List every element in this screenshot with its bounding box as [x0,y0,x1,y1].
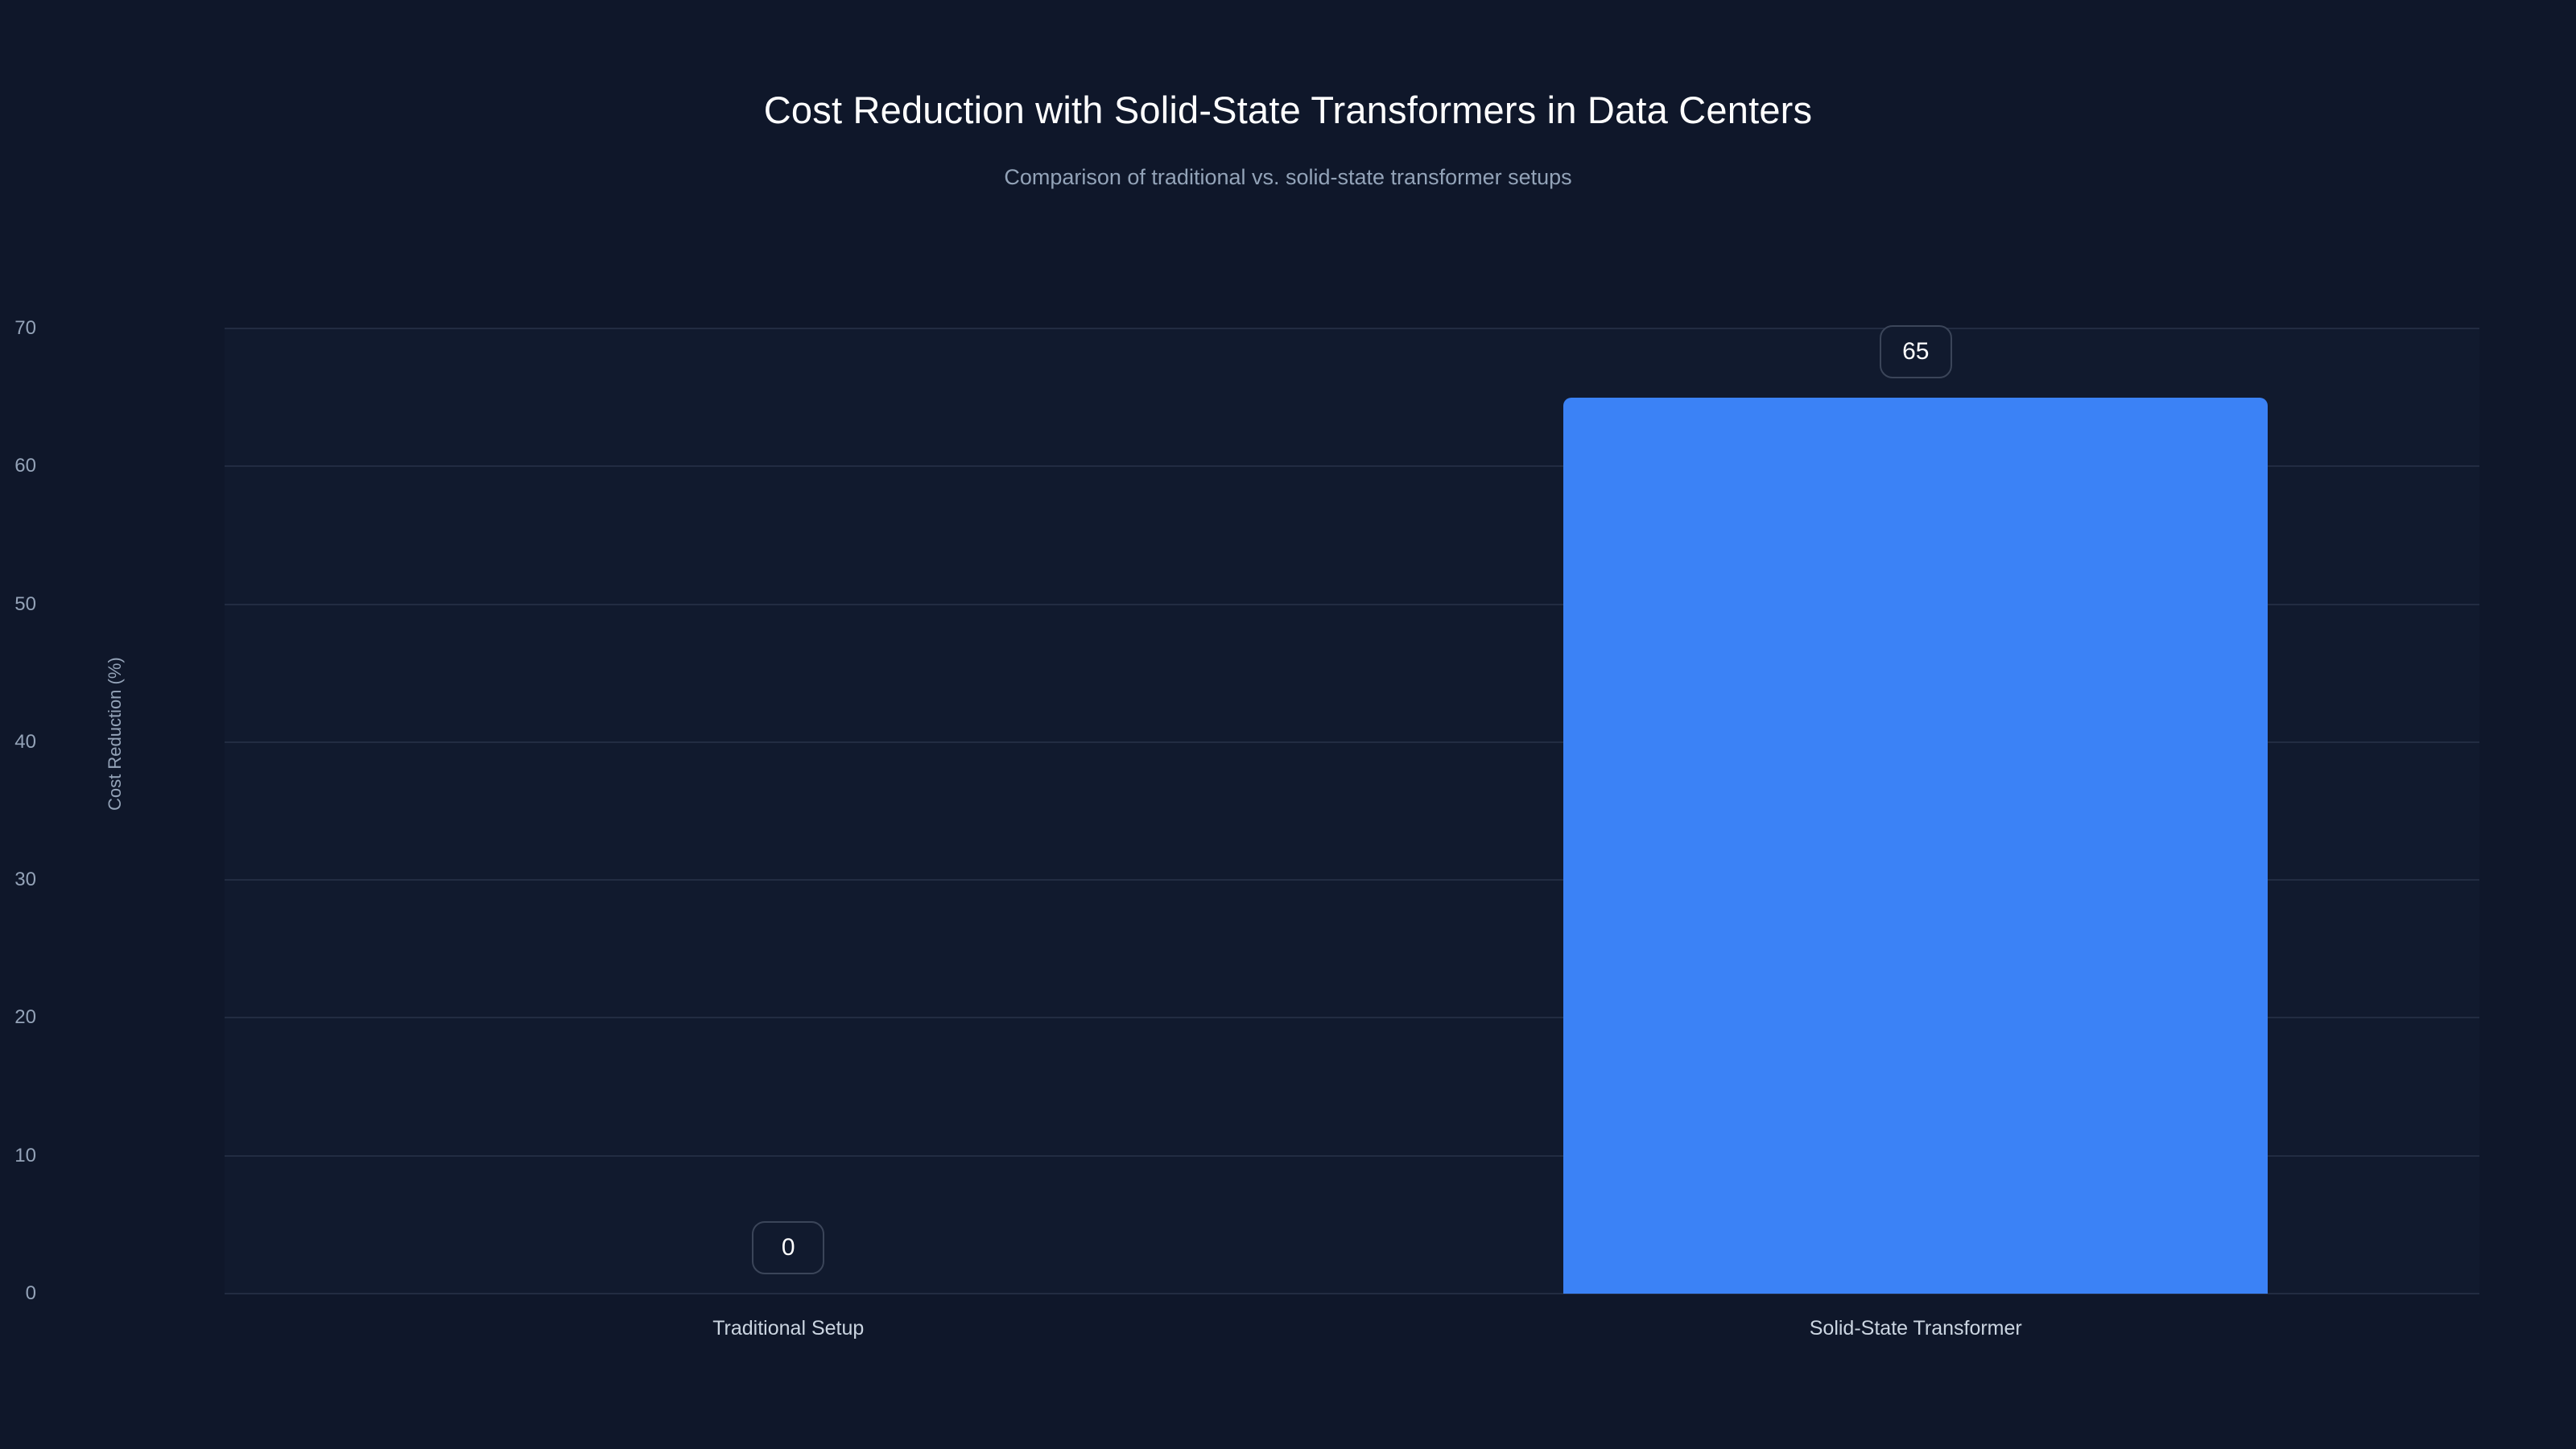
y-axis-title: Cost Reduction (%) [106,657,124,811]
y-axis-tick-label: 30 [0,870,36,890]
bar-value-label: 0 [752,1221,824,1274]
plot-area: 065 [225,328,2479,1294]
bar-value-label: 65 [1880,325,1952,378]
y-axis-tick-label: 0 [0,1284,36,1303]
bar-group: 65 [1563,328,2268,1294]
y-axis-tick-label: 20 [0,1008,36,1027]
y-axis-tick-label: 10 [0,1146,36,1166]
y-axis-tick-label: 60 [0,456,36,476]
x-axis-tick-label: Traditional Setup [712,1319,864,1339]
x-axis-tick-label: Solid-State Transformer [1810,1319,2022,1339]
y-axis-tick-label: 40 [0,733,36,752]
bar-chart-figure: Cost Reduction (%) 010203040506070 065 T… [0,0,2576,1449]
y-axis-tick-label: 50 [0,595,36,614]
bar-group: 0 [436,328,1141,1294]
y-axis-tick-label: 70 [0,319,36,338]
bar[interactable] [1563,398,2268,1294]
